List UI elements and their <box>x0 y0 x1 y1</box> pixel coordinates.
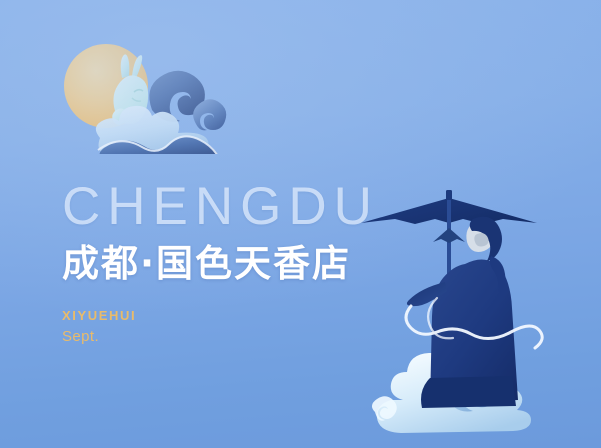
month-label: Sept. <box>62 327 379 347</box>
hanfu-robe <box>407 217 518 408</box>
hanfu-figure-illustration <box>353 178 583 448</box>
moon-cloud-illustration <box>48 26 228 154</box>
brand-pinyin-label: XIYUEHUI <box>62 307 379 326</box>
poster-text-block: CHENGDU 成都·国色天香店 XIYUEHUI Sept. <box>62 180 379 347</box>
poster-canvas: CHENGDU 成都·国色天香店 XIYUEHUI Sept. <box>0 0 601 448</box>
page-title-chinese: 成都·国色天香店 <box>62 245 379 284</box>
page-title-latin: CHENGDU <box>62 180 379 233</box>
subtitle-block: XIYUEHUI Sept. <box>62 307 379 347</box>
